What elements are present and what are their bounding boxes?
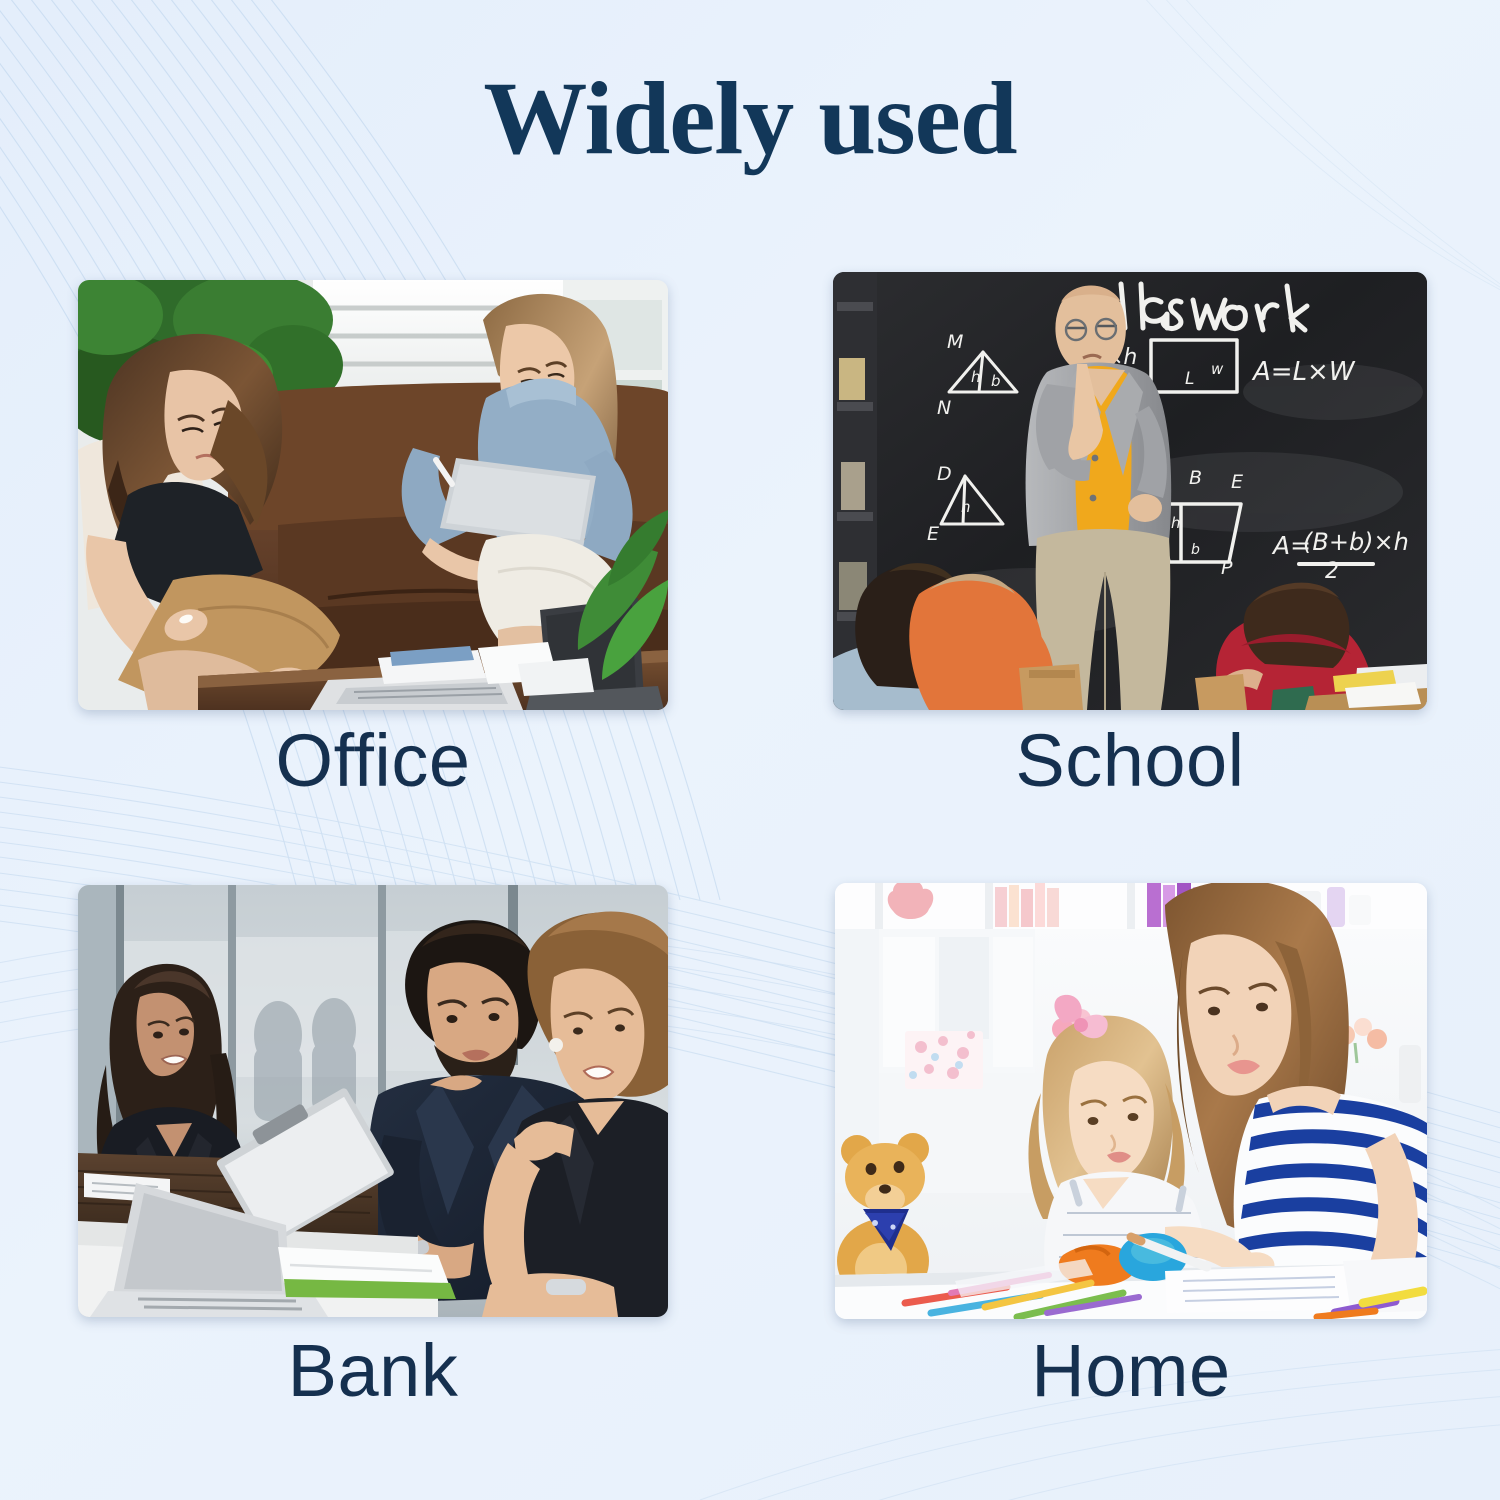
svg-text:M: M: [947, 331, 963, 353]
svg-text:h: h: [961, 498, 971, 516]
svg-text:b: b: [991, 372, 1001, 390]
caption-home: Home: [835, 1328, 1427, 1413]
svg-text:E: E: [1231, 471, 1243, 493]
office-photo: [78, 280, 668, 710]
use-case-card-school[interactable]: M N h b D E h = b×h 2 L w A=L×W M B E N …: [833, 272, 1427, 710]
svg-text:D: D: [937, 463, 952, 485]
svg-text:E: E: [927, 523, 939, 545]
caption-bank: Bank: [78, 1328, 668, 1413]
use-case-card-bank[interactable]: [78, 885, 668, 1317]
svg-text:A=L×W: A=L×W: [1251, 357, 1356, 387]
svg-text:(B+b)×h: (B+b)×h: [1303, 528, 1409, 556]
svg-text:L: L: [1185, 369, 1194, 389]
svg-text:h: h: [1171, 514, 1181, 532]
school-photo: M N h b D E h = b×h 2 L w A=L×W M B E N …: [833, 272, 1427, 710]
svg-text:w: w: [1211, 360, 1224, 378]
svg-text:h: h: [971, 368, 981, 386]
svg-text:2: 2: [1325, 559, 1339, 584]
svg-text:b: b: [1191, 542, 1200, 558]
svg-text:B: B: [1189, 467, 1202, 489]
caption-office: Office: [78, 718, 668, 803]
caption-school: School: [833, 718, 1427, 803]
svg-text:P: P: [1221, 557, 1233, 579]
bank-photo: [78, 885, 668, 1317]
use-case-card-home[interactable]: [835, 883, 1427, 1319]
use-case-card-office[interactable]: [78, 280, 668, 710]
svg-text:N: N: [937, 397, 951, 419]
home-photo: [835, 883, 1427, 1319]
page-title: Widely used: [0, 62, 1500, 176]
